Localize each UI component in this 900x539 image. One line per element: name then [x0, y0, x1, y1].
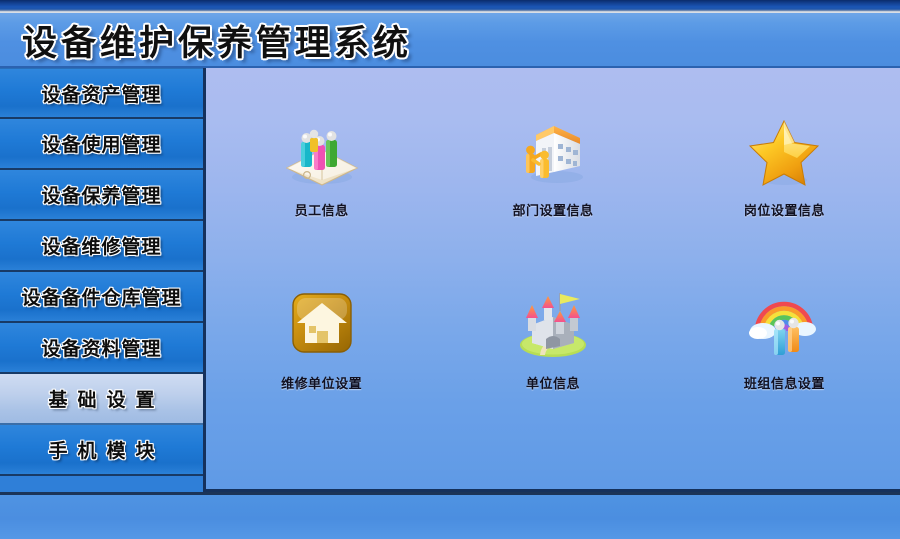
sidebar-item-basic-settings[interactable]: 基础设置: [0, 374, 203, 425]
rainbow-people-icon[interactable]: [741, 287, 827, 363]
sidebar-item-label: 设备保养管理: [41, 181, 161, 208]
castle-icon[interactable]: [510, 287, 596, 363]
module-icon-label: 班组信息设置: [744, 373, 825, 392]
main-navigation-sidebar: 设备资产管理设备使用管理设备保养管理设备维修管理设备备件仓库管理设备资料管理基础…: [0, 68, 206, 492]
title-bar: 设备维护保养管理系统: [0, 13, 900, 68]
module-icon-unit-info[interactable]: 单位信息: [437, 287, 668, 392]
sidebar-item-equipment-repair-management[interactable]: 设备维修管理: [0, 221, 203, 272]
body-region: 设备资产管理设备使用管理设备保养管理设备维修管理设备备件仓库管理设备资料管理基础…: [0, 68, 900, 492]
module-icon-label: 员工信息: [295, 200, 349, 219]
module-icon-employee-info[interactable]: 员工信息: [206, 114, 437, 219]
window-top-band: [0, 0, 900, 13]
gold-house-tile-icon[interactable]: [279, 287, 365, 363]
sidebar-item-equipment-spare-parts-warehouse-management[interactable]: 设备备件仓库管理: [0, 272, 203, 323]
sidebar-item-label: 设备维修管理: [41, 232, 161, 259]
sidebar-item-label: 设备使用管理: [41, 130, 161, 157]
module-icon-repair-unit-setup[interactable]: 维修单位设置: [206, 287, 437, 392]
sidebar-item-label: 基础设置: [38, 385, 164, 412]
module-icon-label: 维修单位设置: [281, 373, 362, 392]
module-icon-label: 部门设置信息: [512, 200, 593, 219]
module-icon-team-info-setup[interactable]: 班组信息设置: [669, 287, 900, 392]
sidebar-item-equipment-maintenance-management[interactable]: 设备保养管理: [0, 170, 203, 221]
people-on-book-icon[interactable]: [279, 114, 365, 190]
gold-star-icon[interactable]: [741, 114, 827, 190]
sidebar-item-label: 设备资产管理: [41, 80, 161, 107]
sidebar-item-label: 设备备件仓库管理: [21, 283, 181, 310]
sidebar-item-mobile-module[interactable]: 手机模块: [0, 425, 203, 476]
status-bar: [0, 492, 900, 539]
module-icon-label: 单位信息: [526, 373, 580, 392]
module-icon-grid: 员工信息: [206, 114, 900, 392]
sidebar-item-equipment-asset-management[interactable]: 设备资产管理: [0, 68, 203, 119]
module-icon-department-setup-info[interactable]: 部门设置信息: [437, 114, 668, 219]
sidebar-item-equipment-document-management[interactable]: 设备资料管理: [0, 323, 203, 374]
building-with-people-icon[interactable]: [510, 114, 596, 190]
app-title: 设备维护保养管理系统: [22, 15, 412, 66]
sidebar-item-equipment-usage-management[interactable]: 设备使用管理: [0, 119, 203, 170]
sidebar-item-label: 手机模块: [38, 436, 164, 463]
module-icon-position-setup-info[interactable]: 岗位设置信息: [669, 114, 900, 219]
module-icon-label: 岗位设置信息: [744, 200, 825, 219]
sidebar-item-label: 设备资料管理: [41, 334, 161, 361]
application-window: 设备维护保养管理系统 设备资产管理设备使用管理设备保养管理设备维修管理设备备件仓…: [0, 0, 900, 539]
content-panel: 员工信息: [206, 68, 900, 492]
